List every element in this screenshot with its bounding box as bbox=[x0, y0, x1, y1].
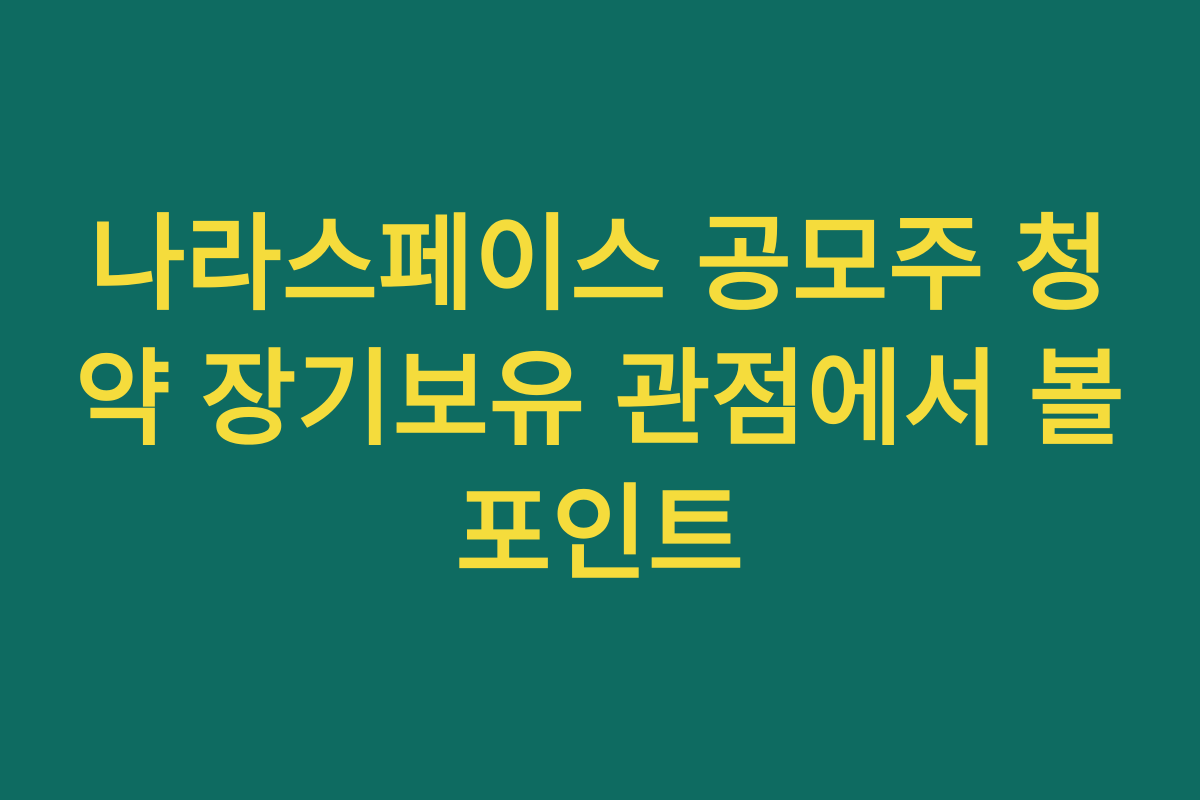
headline-text-block: 나라스페이스 공모주 청 약 장기보유 관점에서 볼 포인트 bbox=[95, 198, 1105, 603]
thumbnail-canvas: 나라스페이스 공모주 청 약 장기보유 관점에서 볼 포인트 bbox=[0, 0, 1200, 800]
headline-line-2: 약 장기보유 관점에서 볼 bbox=[75, 333, 1125, 468]
headline-line-1: 나라스페이스 공모주 청 bbox=[90, 198, 1111, 333]
headline-line-3: 포인트 bbox=[456, 468, 745, 603]
